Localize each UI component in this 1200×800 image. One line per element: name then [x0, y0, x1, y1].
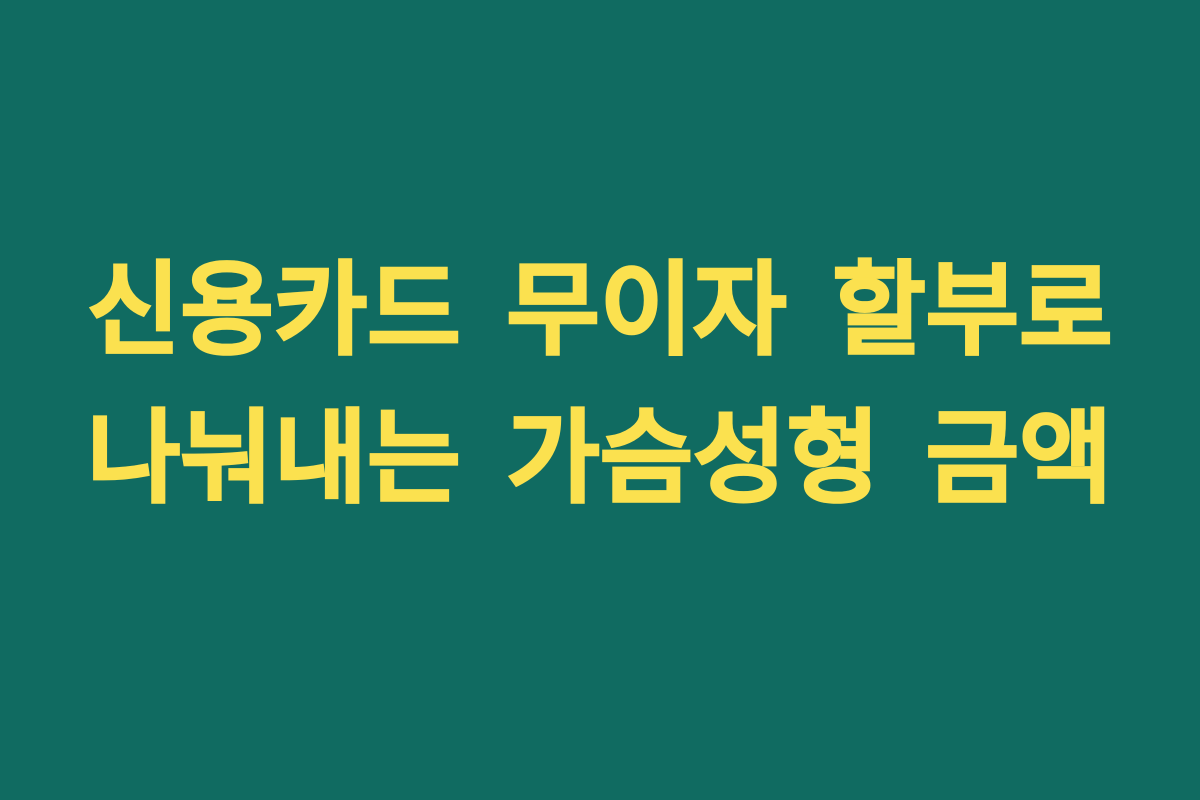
page-title: 신용카드 무이자 할부로 나눠내는 가슴성형 금액 [47, 236, 1153, 532]
promo-banner: 신용카드 무이자 할부로 나눠내는 가슴성형 금액 [0, 0, 1200, 800]
headline-line-2: 나눠내는 가슴성형 금액 [87, 384, 1113, 532]
headline-line-1: 신용카드 무이자 할부로 [87, 236, 1113, 384]
